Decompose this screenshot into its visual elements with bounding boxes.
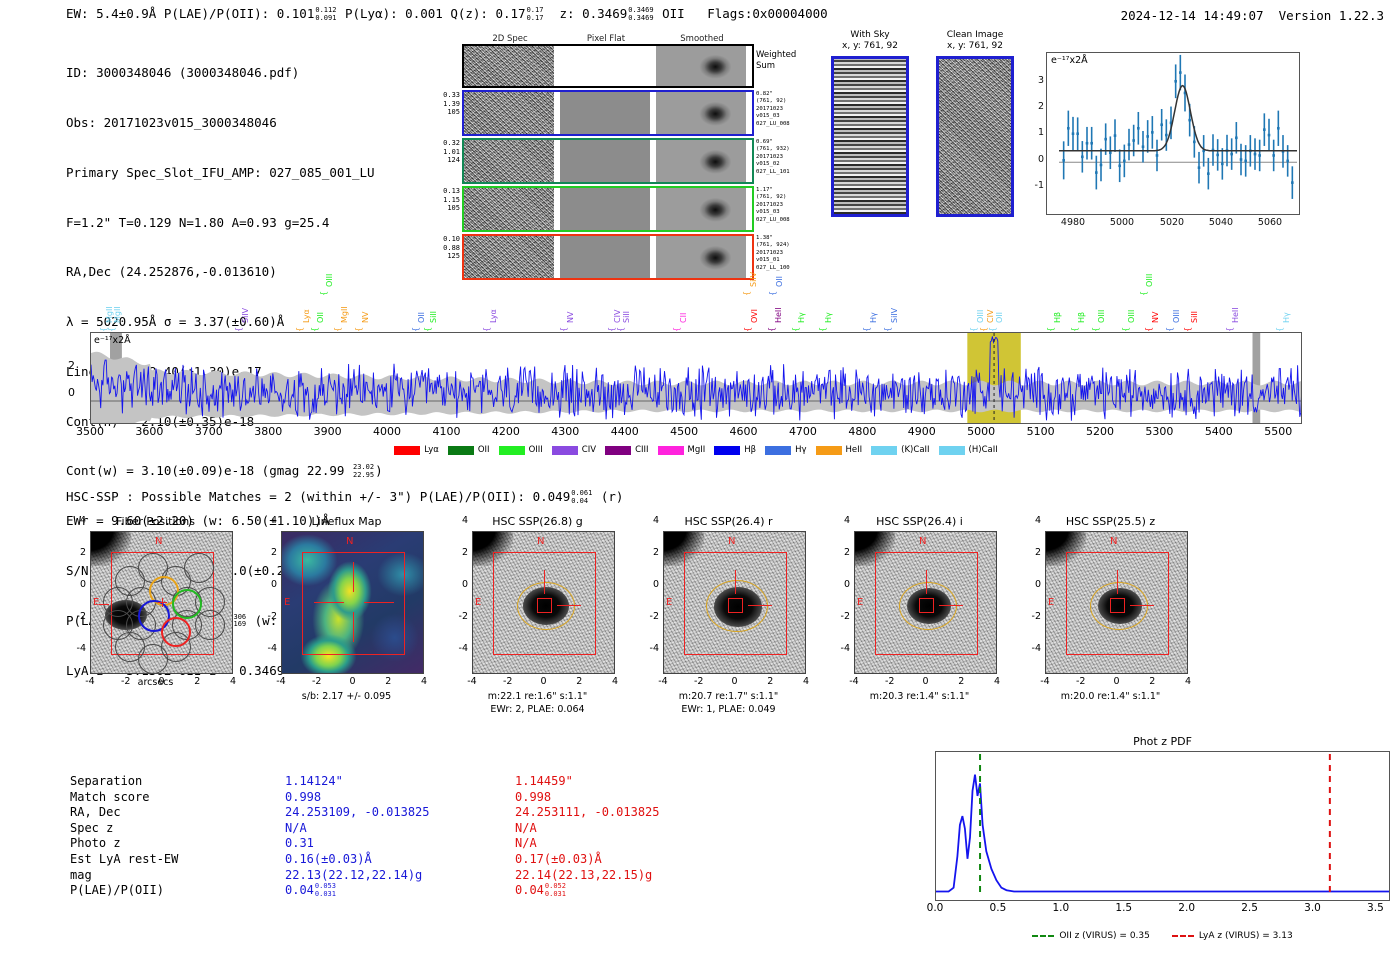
emission-line-label: Lyα (302, 309, 311, 323)
emission-line-label: HeII (774, 307, 783, 323)
with-sky-coords: x, y: 761, 92 (822, 41, 918, 52)
photz-pdf-panel: Phot z PDF 0.00.51.01.52.02.53.03.5 OII … (935, 735, 1390, 941)
spec2d-header-smoothed: Smoothed (654, 34, 750, 44)
spectrum-xtick: 5400 (1205, 425, 1233, 438)
emission-line-label: HeII (1231, 307, 1240, 323)
photz-legend: OII z (VIRUS) = 0.35LyA z (VIRUS) = 3.13 (935, 931, 1390, 941)
match-table: Separation1.14124"1.14459" Match score0.… (70, 774, 745, 900)
photz-legend-item: OII z (VIRUS) = 0.35 (1032, 931, 1150, 941)
hsc-r-ytick: 2 (653, 547, 659, 558)
blue-photo-z: 0.31 (285, 836, 515, 852)
photz-xtick: 3.0 (1304, 902, 1321, 914)
cutout-xtick: -2 (312, 676, 321, 687)
header-timestamp-version: 2024-12-14 14:49:07 Version 1.22.3 (1121, 8, 1384, 23)
hsc-z-title: HSC SSP(25.5) z (1015, 515, 1206, 528)
spec2d-fiber-row: 0.321.01124 0.69"(761, 932)20171023v015_… (462, 138, 754, 184)
emission-line-label: NV (566, 312, 575, 323)
compass-north-label: N (1110, 536, 1117, 547)
fiber-ytick: 0 (80, 579, 86, 590)
hsc-g-ytick: 2 (462, 547, 468, 558)
lineflux-map-image[interactable]: N E (281, 531, 424, 674)
spec2d-flat-fiber1 (560, 92, 650, 134)
red-match-score: 0.998 (515, 790, 745, 806)
line-fit-xtick: 4980 (1061, 217, 1085, 228)
spectrum-xtick: 3500 (76, 425, 104, 438)
legend-label: CIII (635, 445, 648, 455)
row-label: Est LyA rest-EW (70, 852, 285, 868)
cutout-xtick: 2 (576, 676, 582, 687)
clean-image-coords: x, y: 761, 92 (925, 41, 1025, 52)
emission-line-label: SiII (1190, 311, 1199, 323)
legend-label: OII (478, 445, 490, 455)
emission-line-label: OII (995, 312, 1004, 323)
spectrum-xtick: 5000 (967, 425, 995, 438)
photz-legend-item: LyA z (VIRUS) = 3.13 (1172, 931, 1293, 941)
photz-xtick: 2.5 (1241, 902, 1258, 914)
center-marker-h (939, 605, 963, 606)
compass-east-label: E (1048, 597, 1054, 608)
hsc-z-ytick: -4 (1032, 643, 1041, 654)
emission-line-label: Hβ (1053, 312, 1062, 323)
spec2d-image-fiber2 (464, 140, 554, 182)
table-row: Spec zN/AN/A (70, 821, 745, 837)
header-z-suffix: OII (662, 6, 685, 21)
hsc-i-image[interactable]: N E (854, 531, 997, 674)
legend-dash (1032, 935, 1054, 937)
line-fit-ytick: 0 (1038, 154, 1044, 165)
emission-line-label: CIV (613, 310, 622, 323)
emission-line-label: Hβ (1077, 312, 1086, 323)
emission-line-label: OIII (325, 274, 334, 287)
emission-line-label: OIII (1172, 310, 1181, 323)
spec2d-weighted-sum-label: WeightedSum (756, 50, 796, 72)
emission-line-label: OIII (1127, 310, 1136, 323)
spectrum-xtick: 4100 (432, 425, 460, 438)
cutout-xtick: -4 (276, 676, 285, 687)
info-obs: Obs: 20171023v015_3000348046 (66, 115, 383, 132)
table-row: mag22.13(22.12,22.14)g22.14(22.13,22.15)… (70, 868, 745, 884)
info-cont-w: Cont(w) = 3.10(±0.09)e-18 (gmag 22.99 23… (66, 463, 383, 480)
emission-line-brace: { (1139, 291, 1148, 296)
legend-label: HeII (846, 445, 863, 455)
spec2d-smoothed-fiber1 (656, 92, 746, 134)
spec2d-image-fiber1 (464, 92, 554, 134)
spec2d-weighted-sum-row: WeightedSum (462, 44, 754, 88)
spec2d-flat-weighted (560, 46, 650, 86)
center-marker-v (735, 570, 736, 594)
emission-line-label: NV (1151, 312, 1160, 323)
spec2d-right-labels-fiber1: 0.82"(761, 92)20171023v015_03027_LU_008 (756, 91, 790, 128)
center-marker-v (353, 612, 354, 642)
compass-east-label: E (93, 597, 99, 608)
hsc-r-cap2: EWr: 1, PLAE: 0.049 (633, 704, 824, 715)
row-label: RA, Dec (70, 805, 285, 821)
cutout-xtick: -4 (849, 676, 858, 687)
emission-line-label: SiII (429, 311, 438, 323)
cutout-xtick: -2 (694, 676, 703, 687)
cutout-xtick: 2 (767, 676, 773, 687)
spectrum-xtick: 3700 (195, 425, 223, 438)
photz-xtick: 3.5 (1367, 902, 1384, 914)
emission-line-label: Hγ (824, 312, 833, 323)
center-marker-h (1130, 605, 1154, 606)
emission-line-label: SiIV (241, 308, 250, 323)
cutout-xtick: -2 (503, 676, 512, 687)
with-sky-image (831, 56, 909, 217)
hsc-g-cap2: EWr: 2, PLAE: 0.064 (442, 704, 633, 715)
fiber-positions-image[interactable]: N E (90, 531, 233, 674)
center-marker-h (557, 605, 581, 606)
match-marker-box (1110, 598, 1125, 613)
spectrum-xtick: 5300 (1145, 425, 1173, 438)
hsc-z-ytick: 2 (1035, 547, 1041, 558)
header-qz-bounds: 0.170.17 (527, 7, 544, 22)
spectrum-xtick: 5500 (1264, 425, 1292, 438)
table-row: P(LAE)/P(OII) 0.040.0530.031 0.040.0520.… (70, 883, 745, 900)
spec2d-header-2dspec: 2D Spec (462, 34, 558, 44)
fiber-ytick: 4 (80, 515, 86, 526)
emission-line-label: OII (775, 276, 784, 287)
legend-label: Lyα (424, 445, 439, 455)
spec2d-header-pixelflat: Pixel Flat (558, 34, 654, 44)
hsc-r-image[interactable]: N E (663, 531, 806, 674)
compass-north-label: N (155, 536, 162, 547)
legend-swatch (552, 446, 578, 455)
hsc-i-cap: m:20.3 re:1.4" s:1.1" (824, 691, 1015, 702)
center-marker-h (314, 602, 344, 603)
fiber-highlight-red (161, 617, 191, 647)
center-marker-v (544, 570, 545, 594)
emission-line-label: SiIV (890, 308, 899, 323)
spectrum-xtick: 4700 (789, 425, 817, 438)
legend-item: OIII (499, 445, 543, 455)
photz-x-axis: 0.00.51.01.52.02.53.03.5 (935, 901, 1390, 917)
spectrum-xtick: 5100 (1027, 425, 1055, 438)
red-mag: 22.14(22.13,22.15)g (515, 868, 745, 884)
cutout-xtick: 0 (349, 676, 355, 687)
hsc-i-ytick: 4 (844, 515, 850, 526)
compass-east-label: E (857, 597, 863, 608)
hsc-r-ytick: -2 (650, 611, 659, 622)
photz-xtick: 0.5 (990, 902, 1007, 914)
spectrum-xtick: 4400 (611, 425, 639, 438)
photz-xtick: 1.0 (1052, 902, 1069, 914)
compass-east-label: E (475, 597, 481, 608)
fiber-ytick: 2 (80, 547, 86, 558)
legend-item: CIV (552, 445, 596, 455)
hsc-header-plae: 0.049 (533, 489, 571, 504)
info-id: ID: 3000348046 (3000348046.pdf) (66, 65, 383, 82)
header-version: Version 1.22.3 (1279, 8, 1384, 23)
cutout-x-axes: -4-2024-4-2024-4-2024-4-2024-4-2024-4-20… (60, 676, 1350, 690)
hsc-header-bounds: 0.0610.04 (571, 490, 592, 505)
lineflux-map-title: Lineflux Map (251, 515, 442, 528)
clean-image-title: Clean Image (925, 30, 1025, 41)
lineflux-map-cap: s/b: 2.17 +/- 0.095 (251, 691, 442, 702)
spec2d-right-labels-fiber3: 1.17"(761, 92)20171023v015_03027_LU_008 (756, 187, 790, 224)
photz-legend-label: OII z (VIRUS) = 0.35 (1059, 931, 1150, 941)
match-marker-box (537, 598, 552, 613)
blue-separation: 1.14124" (285, 774, 515, 790)
cutout-xtick: 4 (230, 676, 236, 687)
hsc-i-title: HSC SSP(26.4) i (824, 515, 1015, 528)
spectrum-xtick: 4000 (373, 425, 401, 438)
row-label: Photo z (70, 836, 285, 852)
spec2d-smoothed-fiber3 (656, 188, 746, 230)
emission-line-brace: { (742, 291, 751, 296)
legend-label: MgII (688, 445, 706, 455)
spec2d-fiber-row: 0.331.39105 0.82"(761, 92)20171023v015_0… (462, 90, 754, 136)
red-est-ew: 0.17(±0.03)Å (515, 852, 745, 868)
row-label: Match score (70, 790, 285, 806)
spectrum-flux-units: e⁻¹⁷x2Å (94, 335, 131, 346)
legend-swatch (499, 446, 525, 455)
legend-label: CIV (582, 445, 596, 455)
legend-item: HeII (816, 445, 863, 455)
photz-xtick: 0.0 (927, 902, 944, 914)
hsc-z-cap: m:20.0 re:1.4" s:1.1" (1015, 691, 1206, 702)
spec2d-smoothed-weighted (656, 46, 746, 86)
full-spectrum-plot: e⁻¹⁷x2Å (90, 332, 1302, 424)
lineflux-ytick: 4 (271, 515, 277, 526)
legend-label: OIII (529, 445, 543, 455)
line-fit-svg (1047, 53, 1301, 216)
legend-swatch (871, 446, 897, 455)
line-fit-ytick: 3 (1038, 75, 1044, 86)
row-label: Separation (70, 774, 285, 790)
spectrum-legend: LyαOIIOIIICIVCIIIMgIIHβHγHeII(K)CaII(H)C… (90, 445, 1302, 455)
compass-north-label: N (728, 536, 735, 547)
hsc-i-ytick: 0 (844, 579, 850, 590)
cutout-xtick: 4 (994, 676, 1000, 687)
spec2d-column-headers: 2D Spec Pixel Flat Smoothed (462, 34, 754, 44)
cutout-xtick: 0 (540, 676, 546, 687)
emission-line-label: OII (316, 312, 325, 323)
cutout-xtick: 4 (421, 676, 427, 687)
emission-line-label: Hγ (1282, 312, 1291, 323)
fiber-ytick: -2 (77, 611, 86, 622)
legend-item: OII (448, 445, 490, 455)
blue-spec-z: N/A (285, 821, 515, 837)
photz-xtick: 2.0 (1178, 902, 1195, 914)
hsc-g-title: HSC SSP(26.8) g (442, 515, 633, 528)
spectrum-xtick: 3900 (314, 425, 342, 438)
cutout-xtick: -2 (885, 676, 894, 687)
spectrum-xtick: 3600 (135, 425, 163, 438)
compass-north-label: N (346, 536, 353, 547)
legend-label: (H)CaII (969, 445, 998, 455)
emission-line-label: Hγ (797, 312, 806, 323)
emission-line-label: SiII (622, 311, 631, 323)
cutout-xtick: -2 (121, 676, 130, 687)
table-row: RA, Dec24.253109, -0.01382524.253111, -0… (70, 805, 745, 821)
emission-line-label: OII (417, 312, 426, 323)
line-fit-ytick: 2 (1038, 101, 1044, 112)
clean-image-pixels (936, 56, 1014, 217)
table-row: Est LyA rest-EW0.16(±0.03)Å0.17(±0.03)Å (70, 852, 745, 868)
spectrum-xtick: 4500 (670, 425, 698, 438)
hsc-r-cap: m:20.7 re:1.7" s:1.1" (633, 691, 824, 702)
header-z-bounds: 0.34690.3469 (628, 7, 653, 22)
legend-swatch (939, 446, 965, 455)
emission-line-label: OIII (1145, 274, 1154, 287)
hsc-g-ytick: -4 (459, 643, 468, 654)
emission-line-label: MgII (113, 306, 122, 323)
legend-swatch (448, 446, 474, 455)
header-summary-line: EW: 5.4±0.9Å P(LAE)/P(OII): 0.1010.1120.… (66, 6, 828, 22)
compass-east-label: E (666, 597, 672, 608)
lineflux-ytick: -4 (268, 643, 277, 654)
header-flags: Flags:0x00004000 (707, 6, 827, 21)
red-plae-bounds: 0.0520.031 (545, 883, 566, 898)
cutout-xtick: 2 (194, 676, 200, 687)
hsc-z-ytick: 4 (1035, 515, 1041, 526)
line-fit-xtick: 5060 (1258, 217, 1282, 228)
hsc-z-image[interactable]: N E (1045, 531, 1188, 674)
legend-item: Hβ (714, 445, 756, 455)
fiber-highlight-green (172, 589, 202, 619)
spec2d-image-weighted (464, 46, 554, 86)
legend-label: Hγ (795, 445, 806, 455)
center-marker-h (158, 602, 167, 603)
hsc-r-ytick: -4 (650, 643, 659, 654)
line-fit-xtick: 5000 (1110, 217, 1134, 228)
legend-swatch (765, 446, 791, 455)
hsc-i-ytick: -2 (841, 611, 850, 622)
blue-plae-bounds: 0.0530.031 (315, 883, 336, 898)
blue-est-ew: 0.16(±0.03)Å (285, 852, 515, 868)
spectrum-svg (91, 333, 1302, 424)
compass-north-label: N (537, 536, 544, 547)
hsc-r-title: HSC SSP(26.4) r (633, 515, 824, 528)
hsc-z-ytick: -2 (1032, 611, 1041, 622)
emission-line-labels: {MgII{MgII{SiIV{Lyα{OII{OIII{MgII{NV{OII… (90, 254, 1302, 332)
fiber-positions-title: Fiber Positions (60, 515, 251, 528)
red-radec: 24.253111, -0.013825 (515, 805, 745, 821)
red-photo-z: N/A (515, 836, 745, 852)
hsc-header-band: (r) (593, 489, 623, 504)
photz-plot (935, 751, 1390, 901)
legend-item: Hγ (765, 445, 806, 455)
line-fit-ytick: 1 (1038, 127, 1044, 138)
spectrum-xtick: 5200 (1086, 425, 1114, 438)
spectrum-xtick: 3800 (254, 425, 282, 438)
row-label: Spec z (70, 821, 285, 837)
hsc-g-cap: m:22.1 re:1.6" s:1.1" (442, 691, 633, 702)
compass-north-label: N (919, 536, 926, 547)
cutout-xtick: 2 (385, 676, 391, 687)
hsc-header-text: HSC-SSP : Possible Matches = 2 (within +… (66, 489, 533, 504)
emission-line-label: OVI (750, 309, 759, 323)
header-plae-value: 0.101 (277, 6, 315, 21)
photz-svg (936, 752, 1389, 900)
spec2d-flat-fiber2 (560, 140, 650, 182)
lineflux-ytick: 2 (271, 547, 277, 558)
info-primary-spec-slot: Primary Spec_Slot_IFU_AMP: 027_085_001_L… (66, 165, 383, 182)
header-z-label: z: (560, 6, 583, 21)
spectrum-xtick: 4900 (908, 425, 936, 438)
with-sky-title: With Sky (822, 30, 918, 41)
spectrum-ytick: 0 (68, 386, 75, 399)
header-plya-qz: P(Lyα): 0.001 Q(z): (345, 6, 496, 21)
spec2d-panel: 2D Spec Pixel Flat Smoothed WeightedSum … (462, 34, 754, 282)
legend-swatch (714, 446, 740, 455)
spec2d-left-labels-fiber1: 0.331.39105 (443, 91, 460, 117)
cutout-xtick: -4 (658, 676, 667, 687)
header-qz-value: 0.17 (495, 6, 525, 21)
table-row: Photo z0.31N/A (70, 836, 745, 852)
spec2d-right-labels-fiber2: 0.69"(761, 932)20171023v015_02027_LL_101 (756, 139, 790, 176)
legend-swatch (658, 446, 684, 455)
spectrum-ytick: 2 (68, 359, 75, 372)
hsc-g-image[interactable]: N E (472, 531, 615, 674)
cutout-xtick: 2 (1149, 676, 1155, 687)
hsc-r-ytick: 4 (653, 515, 659, 526)
line-fit-ytick: -1 (1035, 180, 1044, 191)
center-marker-h (748, 605, 772, 606)
legend-item: Lyα (394, 445, 439, 455)
spec2d-fiber-row: 0.131.15105 1.17"(761, 92)20171023v015_0… (462, 186, 754, 232)
emission-line-label: SiIV (749, 272, 758, 287)
hsc-g-ytick: 4 (462, 515, 468, 526)
hsc-g-ytick: -2 (459, 611, 468, 622)
lineflux-ytick: 0 (271, 579, 277, 590)
cutout-xtick: -2 (1076, 676, 1085, 687)
spectrum-x-axis: 3500360037003800390040004100420043004400… (90, 424, 1302, 440)
legend-item: (H)CaII (939, 445, 998, 455)
legend-swatch (816, 446, 842, 455)
legend-item: (K)CaII (871, 445, 929, 455)
blue-mag: 22.13(22.12,22.14)g (285, 868, 515, 884)
emission-line-label: Hγ (869, 312, 878, 323)
hsc-r-ytick: 0 (653, 579, 659, 590)
photz-legend-label: LyA z (VIRUS) = 3.13 (1199, 931, 1293, 941)
spec2d-smoothed-fiber2 (656, 140, 746, 182)
hsc-ssp-header: HSC-SSP : Possible Matches = 2 (within +… (66, 489, 623, 505)
cutout-xtick: 0 (731, 676, 737, 687)
spectrum-xtick: 4300 (551, 425, 579, 438)
row-label: P(LAE)/P(OII) (70, 883, 285, 900)
lineflux-ytick: -2 (268, 611, 277, 622)
cutout-xtick: 4 (612, 676, 618, 687)
emission-line-label: CII (679, 313, 688, 323)
photz-xtick: 1.5 (1115, 902, 1132, 914)
hsc-z-ytick: 0 (1035, 579, 1041, 590)
spectrum-xtick: 4800 (848, 425, 876, 438)
compass-east-tick (99, 604, 109, 605)
hsc-i-ytick: -4 (841, 643, 850, 654)
with-sky-cutout: With Sky x, y: 761, 92 (822, 30, 918, 217)
emission-line-brace: { (319, 291, 328, 296)
emission-line-label: OIII (976, 310, 985, 323)
blue-match-score: 0.998 (285, 790, 515, 806)
red-plae: 0.040.0520.031 (515, 883, 745, 900)
line-fit-xtick: 5040 (1209, 217, 1233, 228)
emission-line-label: Lyα (489, 309, 498, 323)
emission-line-label: OIII (1097, 310, 1106, 323)
legend-dash (1172, 935, 1194, 937)
hsc-g-ytick: 0 (462, 579, 468, 590)
row-label: mag (70, 868, 285, 884)
header-z-value: 0.3469 (582, 6, 627, 21)
red-spec-z: N/A (515, 821, 745, 837)
legend-item: MgII (658, 445, 706, 455)
emission-line-label: CIV (986, 310, 995, 323)
emission-line-brace: { (768, 291, 777, 296)
cutout-xtick: -4 (467, 676, 476, 687)
cutout-xtick: -4 (1040, 676, 1049, 687)
center-marker-h (364, 602, 394, 603)
